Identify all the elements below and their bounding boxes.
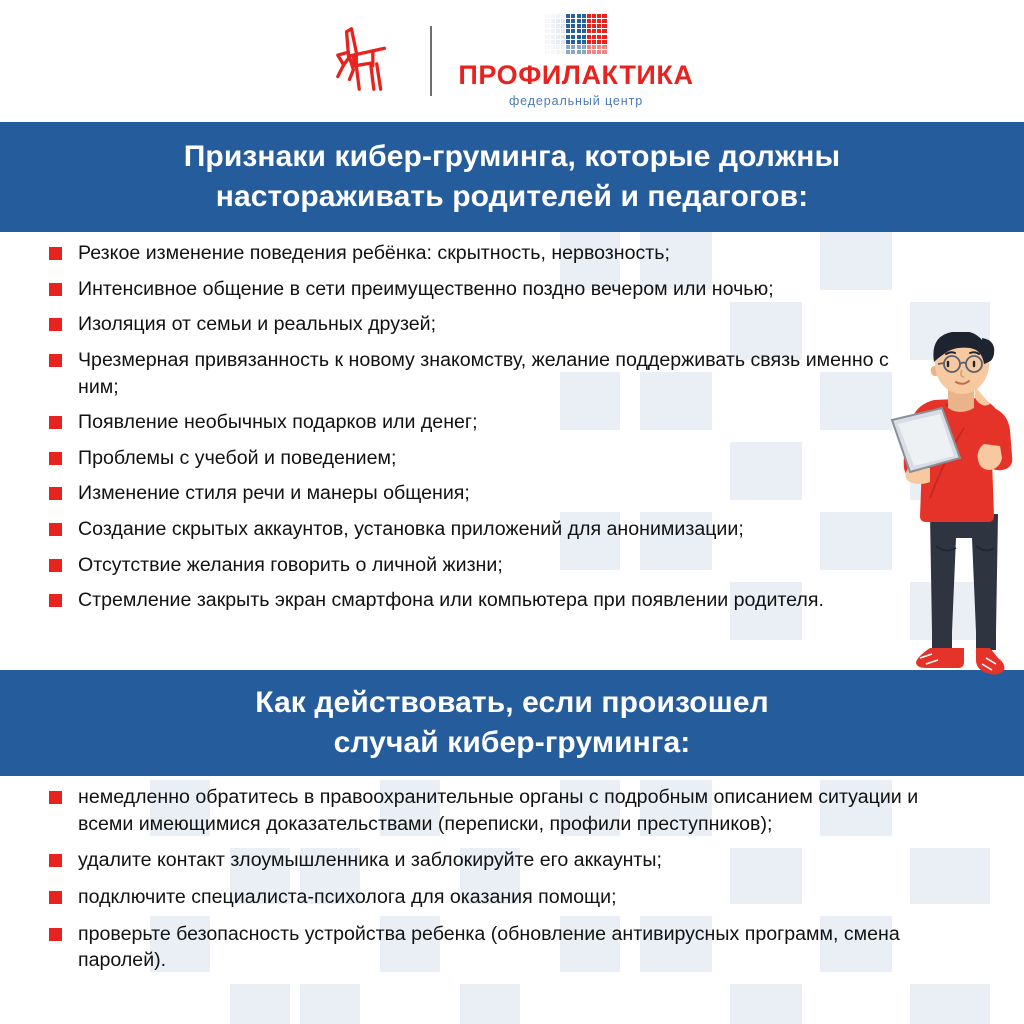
actions-list: немедленно обратитесь в правоохранительн… — [0, 784, 1024, 984]
background-block — [300, 984, 360, 1024]
flag-pixel — [545, 24, 549, 28]
flag-pixel — [556, 40, 560, 44]
list-item-text: Резкое изменение поведения ребёнка: скры… — [78, 240, 670, 267]
banner-signs-heading: Признаки кибер-груминга, которые должны … — [0, 122, 1024, 232]
flag-pixel — [587, 40, 591, 44]
flag-pixel — [582, 35, 586, 39]
list-item-text: Отсутствие желания говорить о личной жиз… — [78, 552, 503, 579]
flag-pixel — [566, 50, 570, 54]
flag-pixel — [577, 19, 581, 23]
flag-pixel — [561, 19, 565, 23]
flag-pixel — [566, 19, 570, 23]
list-item: Стремление закрыть экран смартфона или к… — [0, 587, 1024, 614]
flag-pixel — [602, 29, 606, 33]
bullet-square-icon — [49, 594, 62, 607]
flag-pixel — [582, 45, 586, 49]
flag-pixel — [545, 35, 549, 39]
flag-pixel — [566, 29, 570, 33]
flag-pixel — [566, 45, 570, 49]
background-block — [460, 984, 520, 1024]
background-block — [230, 984, 290, 1024]
bullet-square-icon — [49, 247, 62, 260]
flag-pixel — [592, 50, 596, 54]
flag-pixel — [602, 19, 606, 23]
list-item: Изменение стиля речи и манеры общения; — [0, 480, 1024, 507]
list-item: Создание скрытых аккаунтов, установка пр… — [0, 516, 1024, 543]
list-item: подключите специалиста-психолога для ока… — [0, 884, 1024, 911]
flag-pixel — [597, 24, 601, 28]
bullet-square-icon — [49, 354, 62, 367]
flag-pixel — [597, 35, 601, 39]
flag-pixel — [597, 14, 601, 18]
flag-pixel — [551, 29, 555, 33]
flag-pixel — [566, 24, 570, 28]
flag-pixel — [577, 29, 581, 33]
flag-pixel — [602, 40, 606, 44]
brand-lockup: ПРОФИЛАКТИКА федеральный центр — [458, 14, 693, 108]
flag-pixel — [561, 40, 565, 44]
list-item-text: удалите контакт злоумышленника и заблоки… — [78, 847, 662, 874]
flag-pixel — [577, 14, 581, 18]
flag-pixel — [551, 24, 555, 28]
list-item: проверьте безопасность устройства ребенк… — [0, 921, 1024, 974]
list-item: Резкое изменение поведения ребёнка: скры… — [0, 240, 1024, 267]
list-item-text: Появление необычных подарков или денег; — [78, 409, 478, 436]
flag-pixel — [571, 40, 575, 44]
flag-pixel — [582, 40, 586, 44]
bullet-square-icon — [49, 452, 62, 465]
list-item: удалите контакт злоумышленника и заблоки… — [0, 847, 1024, 874]
list-item-text: Интенсивное общение в сети преимуществен… — [78, 276, 774, 303]
flag-pixel — [556, 45, 560, 49]
flag-pixel — [577, 50, 581, 54]
flag-pixel — [571, 14, 575, 18]
flag-pixel — [587, 19, 591, 23]
flag-pixel — [561, 50, 565, 54]
list-item-text: Изменение стиля речи и манеры общения; — [78, 480, 470, 507]
bullet-square-icon — [49, 928, 62, 941]
flag-pixel — [587, 24, 591, 28]
flag-pixel — [582, 50, 586, 54]
list-item-text: проверьте безопасность устройства ребенк… — [78, 921, 944, 974]
background-block — [910, 984, 990, 1024]
list-item-text: немедленно обратитесь в правоохранительн… — [78, 784, 944, 837]
flag-pixel — [602, 24, 606, 28]
flag-pixel — [556, 50, 560, 54]
flag-pixel — [571, 24, 575, 28]
bullet-square-icon — [49, 283, 62, 296]
flag-pixel — [577, 45, 581, 49]
list-item-text: Чрезмерная привязанность к новому знаком… — [78, 347, 928, 400]
flag-pixel — [587, 45, 591, 49]
flag-pixel — [566, 40, 570, 44]
flag-pixel — [577, 40, 581, 44]
logo-divider — [430, 26, 432, 96]
flag-pixel — [587, 35, 591, 39]
flag-pixel — [592, 19, 596, 23]
banner-1-line-1: Признаки кибер-груминга, которые должны — [184, 137, 841, 177]
flag-pixel — [571, 35, 575, 39]
bullet-square-icon — [49, 416, 62, 429]
list-item: Интенсивное общение в сети преимуществен… — [0, 276, 1024, 303]
flag-pixel — [545, 14, 549, 18]
flag-pixel — [545, 29, 549, 33]
banner-1-line-2: настораживать родителей и педагогов: — [216, 177, 808, 217]
list-item: Появление необычных подарков или денег; — [0, 409, 1024, 436]
background-block — [730, 984, 802, 1024]
left-shoe — [916, 648, 964, 668]
pixel-flag-emblem — [545, 14, 606, 54]
list-item: Изоляция от семьи и реальных друзей; — [0, 311, 1024, 338]
list-item: Проблемы с учебой и поведением; — [0, 445, 1024, 472]
flag-pixel — [592, 40, 596, 44]
flag-pixel — [571, 45, 575, 49]
flag-pixel — [602, 50, 606, 54]
flag-pixel — [556, 19, 560, 23]
flag-pixel — [556, 14, 560, 18]
list-item: немедленно обратитесь в правоохранительн… — [0, 784, 1024, 837]
banner-2-line-1: Как действовать, если произошел — [255, 683, 769, 723]
flag-pixel — [551, 35, 555, 39]
flag-pixel — [551, 45, 555, 49]
flag-pixel — [597, 40, 601, 44]
bullet-square-icon — [49, 559, 62, 572]
flag-pixel — [545, 19, 549, 23]
list-item-text: Изоляция от семьи и реальных друзей; — [78, 311, 436, 338]
flag-pixel — [602, 14, 606, 18]
flag-pixel — [602, 35, 606, 39]
flag-pixel — [577, 35, 581, 39]
flag-pixel — [592, 14, 596, 18]
signs-list: Резкое изменение поведения ребёнка: скры… — [0, 240, 1024, 623]
list-item-text: подключите специалиста-психолога для ока… — [78, 884, 617, 911]
banner-actions-heading: Как действовать, если произошел случай к… — [0, 670, 1024, 776]
flag-pixel — [597, 50, 601, 54]
bullet-square-icon — [49, 854, 62, 867]
bullet-square-icon — [49, 523, 62, 536]
header-logo-bar: ПРОФИЛАКТИКА федеральный центр — [0, 0, 1024, 122]
flag-pixel — [566, 35, 570, 39]
flag-pixel — [571, 29, 575, 33]
bullet-square-icon — [49, 891, 62, 904]
flag-pixel — [556, 35, 560, 39]
list-item: Отсутствие желания говорить о личной жиз… — [0, 552, 1024, 579]
flag-pixel — [597, 29, 601, 33]
flag-pixel — [566, 14, 570, 18]
flag-pixel — [556, 29, 560, 33]
banner-2-line-2: случай кибер-груминга: — [334, 723, 691, 763]
flag-pixel — [545, 40, 549, 44]
flag-pixel — [551, 50, 555, 54]
horse-line-logo — [330, 23, 404, 100]
flag-pixel — [597, 45, 601, 49]
brand-subtitle: федеральный центр — [509, 94, 643, 108]
flag-pixel — [582, 14, 586, 18]
flag-pixel — [592, 24, 596, 28]
flag-pixel — [545, 45, 549, 49]
flag-pixel — [545, 50, 549, 54]
flag-pixel — [582, 29, 586, 33]
flag-pixel — [571, 50, 575, 54]
list-item: Чрезмерная привязанность к новому знаком… — [0, 347, 1024, 400]
list-item-text: Стремление закрыть экран смартфона или к… — [78, 587, 824, 614]
flag-pixel — [577, 24, 581, 28]
flag-pixel — [587, 29, 591, 33]
flag-pixel — [592, 35, 596, 39]
flag-pixel — [561, 14, 565, 18]
flag-pixel — [551, 19, 555, 23]
flag-pixel — [556, 24, 560, 28]
flag-pixel — [561, 45, 565, 49]
list-item-text: Проблемы с учебой и поведением; — [78, 445, 396, 472]
flag-pixel — [582, 19, 586, 23]
flag-pixel — [551, 14, 555, 18]
flag-pixel — [587, 50, 591, 54]
flag-pixel — [592, 29, 596, 33]
flag-pixel — [587, 14, 591, 18]
bullet-square-icon — [49, 318, 62, 331]
flag-pixel — [561, 29, 565, 33]
flag-pixel — [592, 45, 596, 49]
flag-pixel — [571, 19, 575, 23]
flag-pixel — [597, 19, 601, 23]
bullet-square-icon — [49, 791, 62, 804]
flag-pixel — [561, 24, 565, 28]
flag-pixel — [602, 45, 606, 49]
bullet-square-icon — [49, 487, 62, 500]
flag-pixel — [582, 24, 586, 28]
flag-pixel — [561, 35, 565, 39]
list-item-text: Создание скрытых аккаунтов, установка пр… — [78, 516, 744, 543]
brand-title: ПРОФИЛАКТИКА — [458, 62, 693, 89]
flag-pixel — [551, 40, 555, 44]
